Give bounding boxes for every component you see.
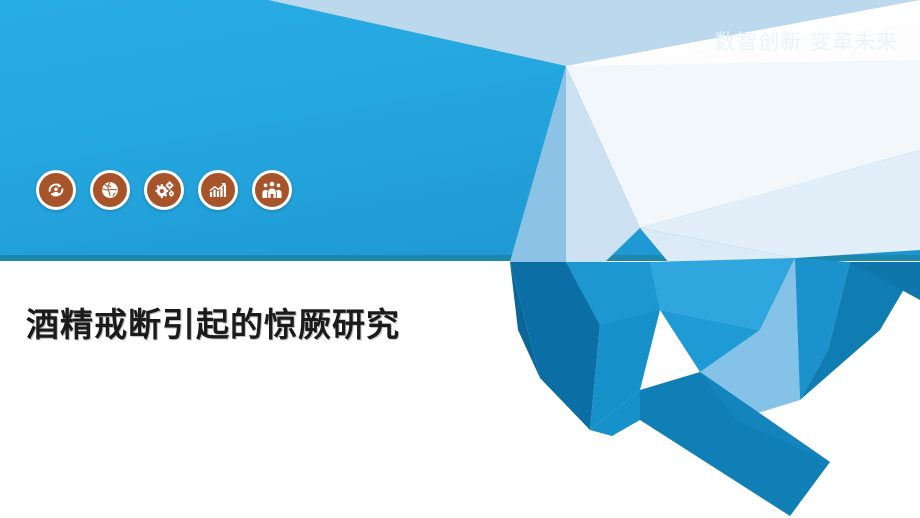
icon-badge-row (36, 170, 292, 210)
page-title: 酒精戒断引起的惊厥研究 (26, 298, 400, 346)
icon-badge-bar-chart-growth[interactable] (198, 170, 238, 210)
icon-badge-globe[interactable] (90, 170, 130, 210)
gears-icon (153, 179, 176, 202)
slide-tagline: 数智创新 变革未来 (714, 26, 898, 56)
icon-badge-gears[interactable] (144, 170, 184, 210)
globe-icon (99, 179, 121, 201)
bar-chart-growth-icon (207, 179, 229, 201)
people-group-icon (260, 179, 284, 201)
icon-badge-recycle-person[interactable] (36, 170, 76, 210)
poly-mid-vertical (510, 66, 566, 262)
icon-badge-people-group[interactable] (252, 170, 292, 210)
recycle-person-icon (45, 179, 67, 201)
presentation-slide: 数智创新 变革未来 (0, 0, 920, 518)
polygon-decoration (0, 0, 920, 518)
